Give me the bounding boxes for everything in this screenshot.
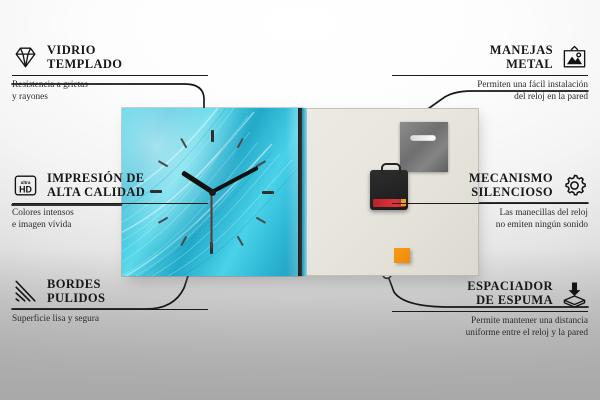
- diagonal-lines-icon: [12, 278, 39, 305]
- feature-rule: [392, 203, 588, 204]
- gear-icon: [561, 172, 588, 199]
- feature-impresion-alta-calidad: ultra HD Impresión de Alta Calidad Color…: [12, 172, 208, 231]
- feature-manejas-metal: Manejas Metal Permiten una fácil instala…: [392, 44, 588, 103]
- feature-title: Espaciador de Espuma: [467, 280, 553, 307]
- ultra-hd-icon: ultra HD: [12, 172, 39, 199]
- svg-text:HD: HD: [19, 184, 32, 194]
- feature-subtitle: Colores intensos e imagen vívida: [12, 208, 208, 231]
- feature-subtitle: Las manecillas del reloj no emiten ningú…: [392, 208, 588, 231]
- feature-title: Bordes Pulidos: [47, 278, 105, 305]
- feature-subtitle: Superficie lisa y segura: [12, 314, 208, 325]
- feature-subtitle: Permite mantener una distancia uniforme …: [392, 316, 588, 339]
- picture-frame-icon: [561, 44, 588, 71]
- feature-title: Impresión de Alta Calidad: [47, 172, 145, 199]
- feature-rule: [12, 75, 208, 76]
- metal-hanger-plate: [400, 122, 448, 172]
- infographic-canvas: Vidrio Templado Resistencia a grietas y …: [0, 0, 600, 400]
- feature-rule: [392, 311, 588, 312]
- foam-spacer: [394, 248, 410, 263]
- feature-title: Vidrio Templado: [47, 44, 122, 71]
- foam-spacer-icon: [561, 280, 588, 307]
- feature-subtitle: Resistencia a grietas y rayones: [12, 80, 208, 103]
- feature-title: Mecanismo Silencioso: [469, 172, 553, 199]
- feature-vidrio-templado: Vidrio Templado Resistencia a grietas y …: [12, 44, 208, 103]
- feature-rule: [12, 309, 208, 310]
- diamond-icon: [12, 44, 39, 71]
- hanger-slot: [410, 135, 436, 141]
- feature-rule: [392, 75, 588, 76]
- feature-title: Manejas Metal: [490, 44, 553, 71]
- clock-center-hub: [209, 189, 216, 196]
- feature-espaciador-espuma: Espaciador de Espuma Permite mantener un…: [392, 280, 588, 339]
- feature-bordes-pulidos: Bordes Pulidos Superficie lisa y segura: [12, 278, 208, 326]
- feature-mecanismo-silencioso: Mecanismo Silencioso Las manecillas del …: [392, 172, 588, 231]
- feature-rule: [12, 203, 208, 204]
- feature-subtitle: Permiten una fácil instalación del reloj…: [392, 80, 588, 103]
